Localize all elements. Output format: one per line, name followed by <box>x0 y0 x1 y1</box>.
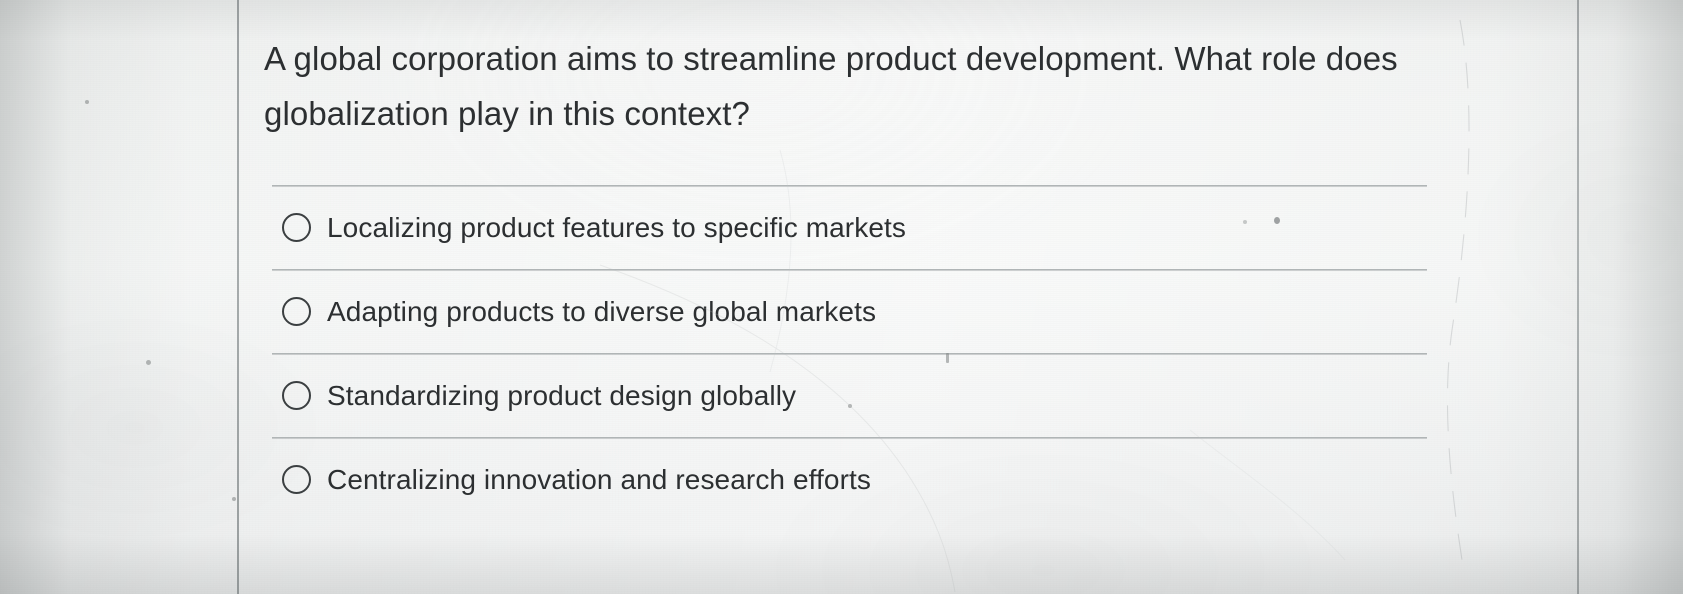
radio-button-icon-4[interactable] <box>282 465 311 494</box>
card-right-border <box>1577 0 1579 594</box>
screenshot-root: A global corporation aims to streamline … <box>0 0 1683 594</box>
options-list: Localizing product features to specific … <box>237 185 1577 521</box>
radio-button-icon-1[interactable] <box>282 213 311 242</box>
option-divider-4 <box>272 437 1427 438</box>
radio-button-icon-3[interactable] <box>282 381 311 410</box>
option-row-3[interactable]: Standardizing product design globally <box>237 354 1577 437</box>
option-label-3: Standardizing product design globally <box>327 380 796 412</box>
option-label-1: Localizing product features to specific … <box>327 212 906 244</box>
option-divider-1 <box>272 185 1427 186</box>
option-divider-3 <box>272 353 1427 354</box>
option-label-4: Centralizing innovation and research eff… <box>327 464 871 496</box>
option-label-2: Adapting products to diverse global mark… <box>327 296 876 328</box>
option-row-1[interactable]: Localizing product features to specific … <box>237 186 1577 269</box>
option-row-2[interactable]: Adapting products to diverse global mark… <box>237 270 1577 353</box>
question-card: A global corporation aims to streamline … <box>237 0 1577 594</box>
option-divider-2 <box>272 269 1427 270</box>
option-row-4[interactable]: Centralizing innovation and research eff… <box>237 438 1577 521</box>
radio-button-icon-2[interactable] <box>282 297 311 326</box>
question-text: A global corporation aims to streamline … <box>264 31 1424 141</box>
